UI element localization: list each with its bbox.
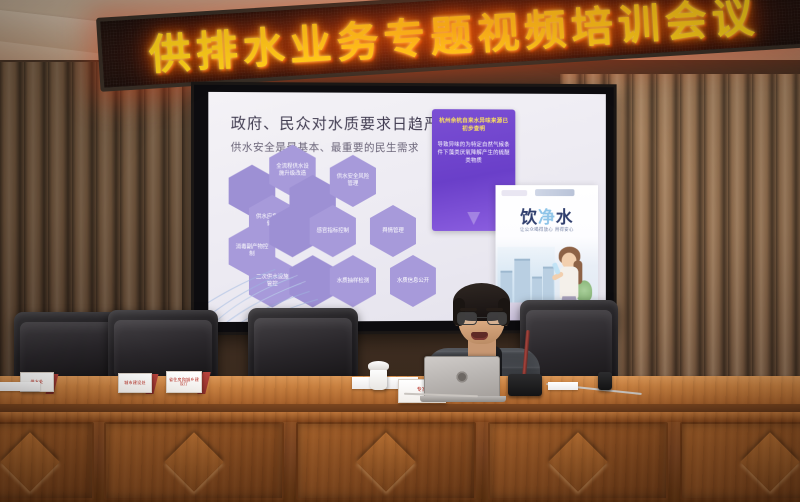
hex-cell: 水质信息公开 — [390, 255, 436, 307]
microphone-base[interactable] — [508, 374, 542, 396]
table-top-rail — [0, 412, 800, 422]
name-card-2: 城市建设处 — [118, 373, 152, 393]
poster-headline: 杭州余杭自来水异味来源已初步查明 — [437, 117, 510, 133]
slide-subtitle: 供水安全是最基本、最重要的民生需求 — [231, 139, 419, 155]
desk-note — [548, 382, 578, 390]
speaker-eyebrow-right — [486, 308, 503, 311]
magazine-girl-body — [560, 267, 579, 299]
conference-table-front-panel — [0, 412, 800, 502]
hex-cell: 舆情管理 — [370, 205, 416, 257]
name-card-3: 省住房和城乡建设厅 — [166, 371, 202, 393]
tea-cup-lid — [368, 361, 389, 370]
tea-cup — [370, 368, 387, 390]
table-panel-3 — [296, 422, 476, 500]
magazine-title: 饮净水 — [496, 203, 598, 228]
table-panel-4 — [488, 422, 668, 500]
glasses-bridge — [477, 317, 487, 318]
speaker-eyebrow-left — [460, 308, 477, 311]
table-panel-1 — [0, 422, 94, 500]
poster-watermark-icon — [467, 212, 480, 225]
glasses-lens-right — [487, 312, 507, 325]
hex-cell: 供水安全风险管理 — [330, 155, 376, 207]
magazine-tag-left — [501, 190, 527, 196]
laptop-screen[interactable] — [424, 356, 500, 398]
chair-cushion — [114, 320, 212, 378]
speaker-mouth — [471, 332, 488, 340]
magazine-title-char-2: 净 — [538, 208, 556, 228]
magazine-tag-right — [535, 189, 574, 196]
desk-device[interactable] — [598, 372, 612, 390]
magazine-title-char-1: 饮 — [520, 208, 538, 228]
laptop-base[interactable] — [420, 396, 506, 402]
magazine-subtitle: 让公众喝得放心 用得安心 — [496, 227, 598, 233]
glasses-icon — [457, 312, 507, 325]
table-panel-2 — [104, 422, 284, 500]
glasses-lens-left — [457, 312, 477, 325]
documents-far-left — [0, 382, 40, 391]
slide-title: 政府、民众对水质要求日趋严格 — [231, 112, 456, 134]
chair-cushion — [254, 318, 352, 380]
poster-body: 导致异味的为特定自然气候条件下藻类厌氧降解产生的硫醚类物质 — [437, 141, 510, 165]
magazine-title-char-3: 水 — [556, 208, 574, 228]
laptop-brand-logo-icon — [457, 372, 468, 383]
conference-room-photo: 供排水业务专题视频培训会议 政府、民众对水质要求日趋严格 供水安全是最基本、最重… — [0, 0, 800, 502]
table-panel-5 — [680, 422, 800, 500]
